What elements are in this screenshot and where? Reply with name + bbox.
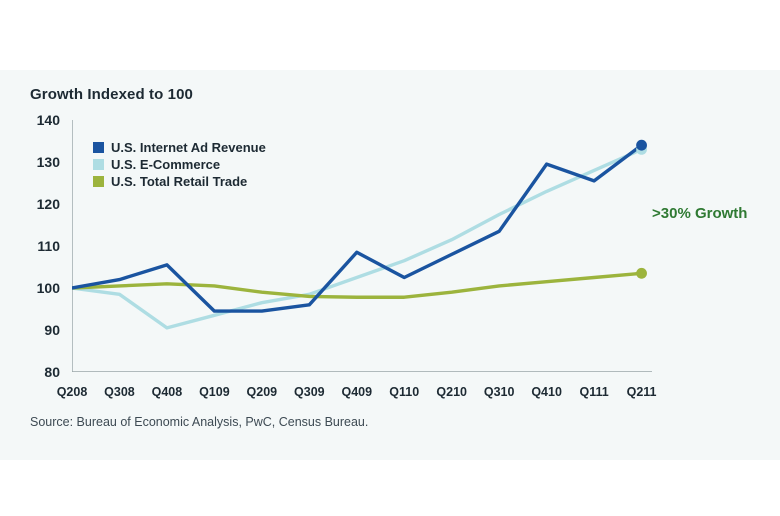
legend-item: U.S. Total Retail Trade	[93, 174, 266, 190]
x-axis-tick-q410: Q410	[524, 385, 570, 399]
x-axis-tick-q209: Q209	[239, 385, 285, 399]
x-axis-tick-q109: Q109	[191, 385, 237, 399]
chart-root: Growth Indexed to 100 809010011012013014…	[0, 0, 780, 516]
y-axis-tick-110: 110	[26, 238, 60, 254]
y-axis-tick-120: 120	[26, 196, 60, 212]
y-axis-tick-130: 130	[26, 154, 60, 170]
y-axis-tick-100: 100	[26, 280, 60, 296]
y-axis-tick-140: 140	[26, 112, 60, 128]
source-note: Source: Bureau of Economic Analysis, PwC…	[30, 415, 368, 429]
legend-label-internet-ad-revenue: U.S. Internet Ad Revenue	[111, 140, 266, 155]
legend-label-total-retail-trade: U.S. Total Retail Trade	[111, 174, 247, 189]
legend-item: U.S. Internet Ad Revenue	[93, 140, 266, 156]
x-axis-tick-q208: Q208	[49, 385, 95, 399]
chart-legend: U.S. Internet Ad Revenue U.S. E-Commerce…	[93, 140, 266, 191]
y-axis-tick-80: 80	[26, 364, 60, 380]
x-axis-tick-q110: Q110	[381, 385, 427, 399]
x-axis-tick-q308: Q308	[96, 385, 142, 399]
x-axis-tick-q210: Q210	[429, 385, 475, 399]
chart-title: Growth Indexed to 100	[30, 86, 193, 103]
legend-swatch-total-retail-trade	[93, 176, 104, 187]
growth-annotation-label: >30% Growth	[652, 205, 747, 222]
x-axis-tick-q310: Q310	[476, 385, 522, 399]
x-axis-tick-q408: Q408	[144, 385, 190, 399]
legend-swatch-ecommerce	[93, 159, 104, 170]
legend-swatch-internet-ad-revenue	[93, 142, 104, 153]
x-axis-tick-q111: Q111	[571, 385, 617, 399]
x-axis-tick-q211: Q211	[619, 385, 665, 399]
y-axis-tick-90: 90	[26, 322, 60, 338]
legend-item: U.S. E-Commerce	[93, 157, 266, 173]
end-marker-internet-ad-revenue	[636, 140, 647, 151]
x-axis-tick-q409: Q409	[334, 385, 380, 399]
end-marker-total-retail-trade	[636, 268, 647, 279]
x-axis-tick-q309: Q309	[286, 385, 332, 399]
legend-label-ecommerce: U.S. E-Commerce	[111, 157, 220, 172]
